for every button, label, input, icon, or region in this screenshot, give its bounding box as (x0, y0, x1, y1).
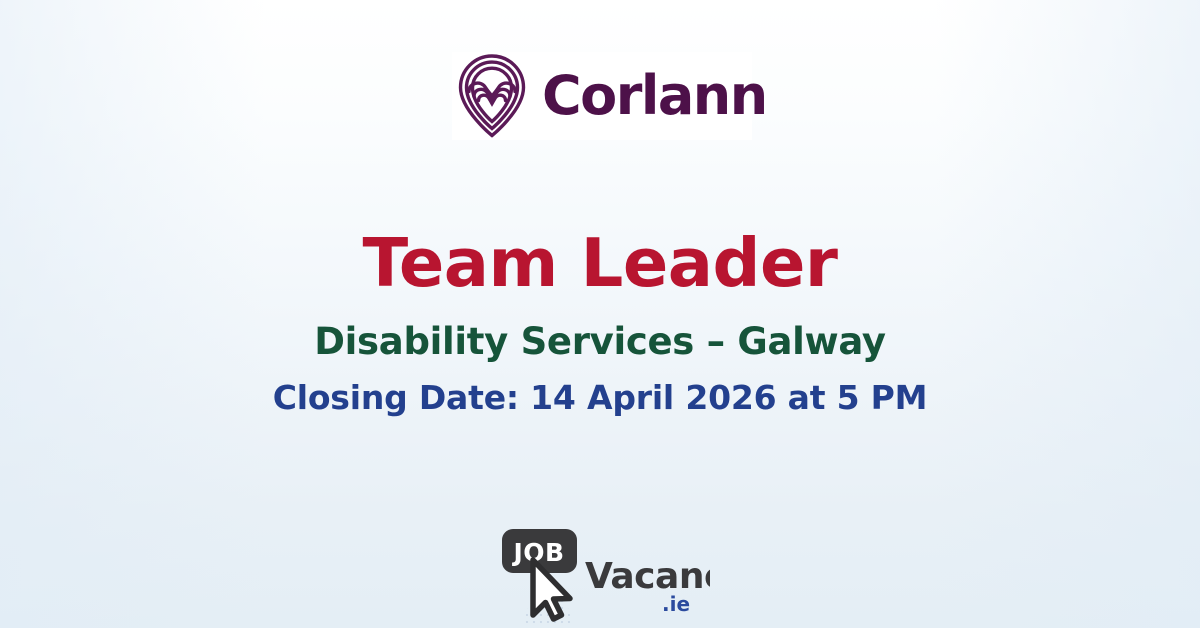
job-title: Team Leader (0, 228, 1200, 298)
corlann-pin-heart-logo (456, 54, 528, 138)
job-advert-poster: Corlann Team Leader Disability Services … (0, 0, 1200, 628)
corlann-brand-logo: Corlann (452, 52, 752, 140)
vacancies-wordmark: Vacancies (585, 556, 710, 597)
tld-text: .ie (662, 592, 690, 616)
job-subtitle-department-location: Disability Services – Galway (0, 322, 1200, 363)
jobvacancies-logo-graphic: JOB Vacancies .ie (490, 522, 710, 628)
closing-date-text: Closing Date: 14 April 2026 at 5 PM (0, 380, 1200, 416)
jobvacancies-site-logo: JOB Vacancies .ie (0, 522, 1200, 628)
brand-name-text: Corlann (542, 69, 767, 123)
headline-block: Team Leader Disability Services – Galway… (0, 228, 1200, 416)
